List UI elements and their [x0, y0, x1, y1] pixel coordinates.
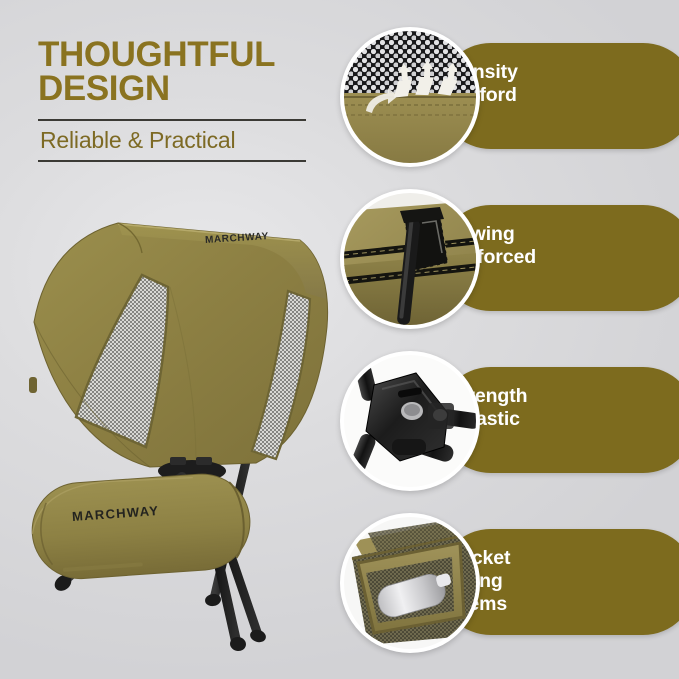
divider-top [38, 119, 306, 121]
feature-fabric-photo [340, 27, 480, 167]
nylon-hub-image [344, 355, 476, 487]
page-subtitle: Reliable & Practical [40, 127, 328, 154]
side-pocket-image [344, 517, 476, 649]
page-title: THOUGHTFUL DESIGN [38, 38, 328, 107]
infographic-canvas: THOUGHTFUL DESIGN Reliable & Practical [0, 0, 679, 679]
feature-sewing-photo [340, 189, 480, 329]
stitched-corner-image [344, 193, 476, 325]
mesh-fabric-image [344, 31, 476, 163]
feature-pocket-photo [340, 513, 480, 653]
chair-illustration [0, 195, 350, 665]
product-photo-chair: MARCHWAY MARCHWAY [0, 195, 350, 665]
divider-bottom [38, 160, 306, 162]
feature-hub-photo [340, 351, 480, 491]
title-line-1: THOUGHTFUL [38, 35, 275, 74]
heading-block: THOUGHTFUL DESIGN Reliable & Practical [38, 38, 328, 162]
title-line-2: DESIGN [38, 72, 328, 106]
